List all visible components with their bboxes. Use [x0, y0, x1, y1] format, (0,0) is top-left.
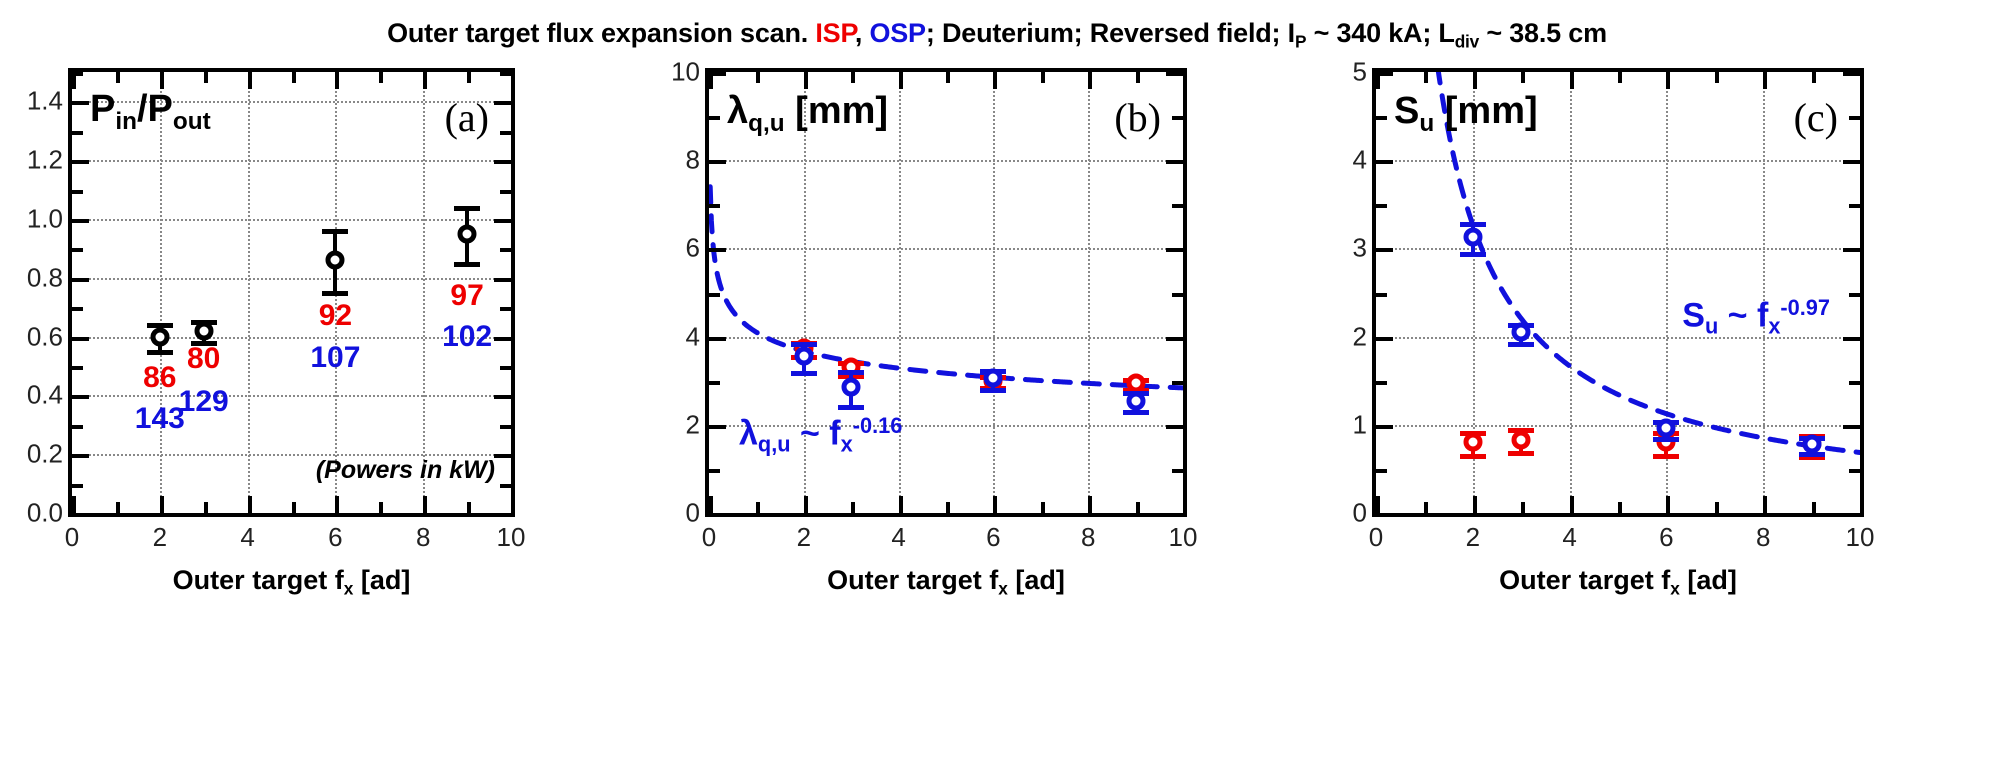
x-axis-tick-major [1473, 72, 1477, 89]
y-axis-tick-major [1166, 425, 1183, 429]
gridline-horizontal [709, 248, 1183, 250]
x-axis-tick-label: 8 [1756, 522, 1770, 553]
y-axis-tick-major [1166, 248, 1183, 252]
y-axis-tick-minor [1376, 204, 1387, 208]
y-axis-tick-label: 1.2 [27, 145, 63, 176]
marker-open-circle [1463, 227, 1482, 246]
x-axis-tick-major [1376, 72, 1380, 89]
y-axis-tick-major [1843, 160, 1860, 164]
y-axis-tick-minor [500, 307, 511, 311]
y-axis-tick-major [72, 160, 89, 164]
x-axis-tick-minor [1041, 502, 1045, 513]
x-axis-tick-label: 0 [702, 522, 716, 553]
y-axis-tick-major [494, 454, 511, 458]
x-axis-tick-label: 4 [240, 522, 254, 553]
y-axis-tick-minor [1849, 469, 1860, 473]
x-axis-tick-label: 4 [1562, 522, 1576, 553]
y-axis-tick-minor [1376, 293, 1387, 297]
error-bar-cap-lower [1508, 342, 1534, 347]
power-annotation-osp: 129 [179, 385, 229, 419]
power-annotation-isp: 80 [187, 342, 220, 376]
y-axis-tick-minor [709, 293, 720, 297]
y-axis-tick-major [709, 248, 726, 252]
gridline-vertical [1088, 72, 1090, 513]
y-axis-tick-major [1843, 337, 1860, 341]
x-axis-tick-major [1088, 72, 1092, 89]
x-axis-tick-major [1473, 496, 1477, 513]
x-axis-tick-major [423, 72, 427, 89]
marker-open-circle [1463, 433, 1482, 452]
x-axis-tick-major [1183, 72, 1187, 89]
quantity-label-c: Su [mm] [1394, 92, 1538, 136]
power-annotation-isp: 86 [143, 361, 176, 395]
x-axis-tick-major [1088, 496, 1092, 513]
axis-title-x-a: Outer target fx [ad] [173, 565, 411, 600]
y-axis-tick-major [1376, 425, 1393, 429]
gridline-vertical [248, 72, 250, 513]
x-axis-tick-minor [1715, 72, 1719, 83]
error-bar-cap-upper [454, 206, 480, 211]
gridline-vertical [993, 72, 995, 513]
x-axis-tick-minor [1521, 72, 1525, 83]
y-axis-tick-major [1376, 337, 1393, 341]
error-bar-cap-lower [1508, 451, 1534, 456]
x-axis-tick-minor [1812, 502, 1816, 513]
x-axis-tick-minor [292, 502, 296, 513]
power-annotation-isp: 92 [319, 299, 352, 333]
quantity-label-a: Pin/Pout [90, 90, 211, 134]
y-axis-tick-major [494, 101, 511, 105]
y-axis-tick-major [72, 395, 89, 399]
x-axis-tick-minor [116, 72, 120, 83]
y-axis-tick-minor [1376, 116, 1387, 120]
y-axis-tick-minor [1849, 381, 1860, 385]
y-axis-tick-minor [72, 425, 83, 429]
y-axis-tick-label: 0.8 [27, 262, 63, 293]
x-axis-tick-minor [851, 502, 855, 513]
x-axis-tick-label: 6 [328, 522, 342, 553]
error-bar-cap-lower [1653, 437, 1679, 442]
y-axis-tick-minor [72, 131, 83, 135]
axis-title-x-b: Outer target fx [ad] [827, 565, 1065, 600]
fit-annotation-c: Su ~ fx-0.97 [1682, 297, 1830, 337]
y-axis-tick-major [72, 101, 89, 105]
x-axis-tick-major [248, 496, 252, 513]
x-axis-tick-minor [467, 72, 471, 83]
plot-area-c [1376, 72, 1860, 513]
x-axis-tick-minor [851, 72, 855, 83]
x-axis-tick-label: 2 [797, 522, 811, 553]
y-axis-tick-minor [72, 307, 83, 311]
y-axis-tick-minor [72, 248, 83, 252]
y-axis-tick-label: 0.2 [27, 439, 63, 470]
x-axis-tick-major [804, 496, 808, 513]
y-axis-tick-label: 0.4 [27, 380, 63, 411]
marker-open-circle [1126, 391, 1145, 410]
x-axis-tick-major [709, 496, 713, 513]
gridline-horizontal [1376, 160, 1860, 162]
x-axis-tick-minor [1812, 72, 1816, 83]
x-axis-tick-label: 4 [891, 522, 905, 553]
power-annotation-isp: 97 [450, 279, 483, 313]
x-axis-tick-minor [1521, 502, 1525, 513]
y-axis-tick-minor [709, 116, 720, 120]
y-axis-tick-major [72, 278, 89, 282]
x-axis-tick-major [423, 496, 427, 513]
x-axis-tick-major [1860, 496, 1864, 513]
y-axis-tick-minor [1172, 381, 1183, 385]
error-bar-cap-upper [838, 370, 864, 375]
error-bar-cap-lower [147, 350, 173, 355]
x-axis-tick-major [1570, 72, 1574, 89]
y-axis-tick-major [1843, 248, 1860, 252]
error-bar-cap-lower [838, 405, 864, 410]
y-axis-tick-minor [500, 425, 511, 429]
error-bar-cap-lower [1653, 454, 1679, 459]
y-axis-tick-minor [72, 484, 83, 488]
error-bar-cap-lower [791, 371, 817, 376]
error-bar-cap-upper [1460, 222, 1486, 227]
marker-open-circle [842, 378, 861, 397]
y-axis-tick-major [494, 395, 511, 399]
x-axis-tick-minor [1041, 72, 1045, 83]
y-axis-tick-major [72, 454, 89, 458]
y-axis-tick-major [494, 278, 511, 282]
x-axis-tick-minor [467, 502, 471, 513]
gridline-horizontal [1376, 425, 1860, 427]
error-bar-cap-lower [454, 262, 480, 267]
x-axis-tick-minor [1136, 502, 1140, 513]
plot-frame-c: Su [mm] (c) Su ~ fx-0.97 Outer target fx… [1372, 68, 1864, 517]
y-axis-tick-minor [500, 131, 511, 135]
y-axis-tick-major [494, 337, 511, 341]
fit-annotation-b: λq,u ~ fx-0.16 [739, 415, 902, 455]
x-axis-tick-label: 10 [1846, 522, 1875, 553]
y-axis-tick-label: 6 [686, 233, 700, 264]
y-axis-tick-major [1843, 425, 1860, 429]
y-axis-tick-label: 2 [686, 409, 700, 440]
x-axis-tick-major [72, 496, 76, 513]
x-axis-tick-major [1763, 496, 1767, 513]
x-axis-tick-label: 2 [1466, 522, 1480, 553]
y-axis-tick-major [1166, 337, 1183, 341]
panel-b: λq,u [mm] (b) λq,u ~ fx-0.16 Outer targe… [620, 0, 1292, 782]
power-annotation-osp: 107 [310, 341, 360, 375]
y-axis-tick-major [709, 513, 726, 517]
fit-curve-c [1376, 72, 1860, 513]
y-axis-tick-minor [72, 190, 83, 194]
marker-open-circle [1657, 419, 1676, 438]
y-axis-tick-major [1843, 72, 1860, 76]
y-axis-tick-minor [1172, 116, 1183, 120]
y-axis-tick-major [1376, 248, 1393, 252]
error-bar-cap-lower [1123, 410, 1149, 415]
x-axis-tick-minor [204, 502, 208, 513]
y-axis-tick-minor [1849, 293, 1860, 297]
quantity-label-b: λq,u [mm] [727, 92, 888, 136]
x-axis-tick-major [1666, 496, 1670, 513]
y-axis-tick-minor [1376, 469, 1387, 473]
y-axis-tick-label: 8 [686, 145, 700, 176]
marker-open-circle [1802, 435, 1821, 454]
x-axis-tick-minor [756, 502, 760, 513]
y-axis-tick-label: 0 [1353, 498, 1367, 529]
x-axis-tick-major [993, 496, 997, 513]
y-axis-tick-minor [1849, 116, 1860, 120]
x-axis-tick-major [709, 72, 713, 89]
y-axis-tick-label: 4 [686, 321, 700, 352]
power-annotation-osp: 143 [135, 402, 185, 436]
x-axis-tick-minor [116, 502, 120, 513]
x-axis-tick-major [899, 72, 903, 89]
error-bar-cap-lower [980, 388, 1006, 393]
x-axis-tick-minor [379, 502, 383, 513]
y-axis-tick-major [709, 337, 726, 341]
x-axis-tick-major [160, 496, 164, 513]
y-axis-tick-major [1166, 513, 1183, 517]
x-axis-tick-label: 10 [497, 522, 526, 553]
y-axis-tick-major [72, 513, 89, 517]
x-axis-tick-major [335, 72, 339, 89]
y-axis-tick-minor [709, 381, 720, 385]
x-axis-tick-major [1183, 496, 1187, 513]
y-axis-tick-minor [1172, 204, 1183, 208]
y-axis-tick-major [1843, 513, 1860, 517]
error-bar-cap-lower [1460, 454, 1486, 459]
marker-open-circle [1126, 373, 1145, 392]
x-axis-tick-major [511, 72, 515, 89]
panel-a: 86143801299210797102 Pin/Pout (a) (Power… [0, 0, 620, 782]
plot-frame-b: λq,u [mm] (b) λq,u ~ fx-0.16 Outer targe… [705, 68, 1187, 517]
x-axis-tick-minor [1424, 502, 1428, 513]
gridline-horizontal [709, 337, 1183, 339]
x-axis-tick-minor [1618, 72, 1622, 83]
x-axis-tick-minor [204, 72, 208, 83]
y-axis-tick-major [1376, 160, 1393, 164]
x-axis-tick-minor [292, 72, 296, 83]
x-axis-tick-major [1860, 72, 1864, 89]
marker-open-circle [458, 224, 477, 243]
panel-c: Su [mm] (c) Su ~ fx-0.97 Outer target fx… [1292, 0, 1994, 782]
x-axis-tick-label: 0 [65, 522, 79, 553]
x-axis-tick-label: 6 [986, 522, 1000, 553]
gridline-horizontal [72, 219, 511, 221]
gridline-vertical [1570, 72, 1572, 513]
x-axis-tick-major [248, 72, 252, 89]
gridline-horizontal [72, 278, 511, 280]
y-axis-tick-major [72, 219, 89, 223]
y-axis-tick-minor [709, 469, 720, 473]
marker-open-circle [984, 369, 1003, 388]
x-axis-tick-minor [1715, 502, 1719, 513]
y-axis-tick-minor [1849, 204, 1860, 208]
x-axis-tick-label: 10 [1169, 522, 1198, 553]
y-axis-tick-minor [709, 204, 720, 208]
y-axis-tick-label: 2 [1353, 321, 1367, 352]
panel-tag-a: (a) [445, 94, 489, 141]
y-axis-tick-minor [1376, 381, 1387, 385]
y-axis-tick-label: 5 [1353, 57, 1367, 88]
y-axis-tick-minor [500, 366, 511, 370]
gridline-vertical [423, 72, 425, 513]
y-axis-tick-minor [500, 72, 511, 76]
marker-open-circle [1512, 430, 1531, 449]
y-axis-tick-label: 0.6 [27, 321, 63, 352]
y-axis-tick-label: 1 [1353, 409, 1367, 440]
x-axis-tick-minor [1424, 72, 1428, 83]
x-axis-tick-major [511, 496, 515, 513]
gridline-horizontal [1376, 248, 1860, 250]
x-axis-tick-label: 8 [1081, 522, 1095, 553]
gridline-vertical [1763, 72, 1765, 513]
plot-frame-a: 86143801299210797102 Pin/Pout (a) (Power… [68, 68, 515, 517]
x-axis-tick-major [993, 72, 997, 89]
x-axis-tick-minor [1136, 72, 1140, 83]
y-axis-tick-label: 10 [671, 57, 700, 88]
error-bar-cap-lower [322, 291, 348, 296]
y-axis-tick-minor [1172, 293, 1183, 297]
error-bar-cap-lower [1460, 252, 1486, 257]
panel-tag-c: (c) [1794, 94, 1838, 141]
gridline-vertical [160, 72, 162, 513]
error-bar-cap-upper [322, 229, 348, 234]
panel-tag-b: (b) [1114, 94, 1161, 141]
y-axis-tick-major [72, 337, 89, 341]
x-axis-tick-minor [946, 502, 950, 513]
x-axis-tick-major [160, 72, 164, 89]
x-axis-tick-label: 0 [1369, 522, 1383, 553]
power-annotation-osp: 102 [442, 320, 492, 354]
y-axis-tick-major [1166, 72, 1183, 76]
x-axis-tick-major [1666, 72, 1670, 89]
y-axis-tick-minor [72, 366, 83, 370]
marker-open-circle [194, 321, 213, 340]
x-axis-tick-minor [1618, 502, 1622, 513]
y-axis-tick-major [1166, 160, 1183, 164]
x-axis-tick-major [72, 72, 76, 89]
x-axis-tick-label: 6 [1659, 522, 1673, 553]
marker-open-circle [794, 347, 813, 366]
y-axis-tick-label: 3 [1353, 233, 1367, 264]
y-axis-tick-major [709, 425, 726, 429]
y-axis-tick-minor [500, 248, 511, 252]
x-axis-tick-minor [756, 72, 760, 83]
gridline-horizontal [709, 160, 1183, 162]
marker-open-circle [326, 251, 345, 270]
axis-title-x-c: Outer target fx [ad] [1499, 565, 1737, 600]
y-axis-tick-label: 1.0 [27, 204, 63, 235]
y-axis-tick-major [494, 513, 511, 517]
x-axis-tick-major [804, 72, 808, 89]
y-axis-tick-minor [500, 190, 511, 194]
x-axis-tick-major [1570, 496, 1574, 513]
y-axis-tick-label: 0.0 [27, 498, 63, 529]
x-axis-tick-label: 8 [416, 522, 430, 553]
x-axis-tick-minor [946, 72, 950, 83]
x-axis-tick-label: 2 [153, 522, 167, 553]
x-axis-tick-major [899, 496, 903, 513]
gridline-horizontal [72, 395, 511, 397]
x-axis-tick-major [1763, 72, 1767, 89]
y-axis-tick-major [494, 219, 511, 223]
y-axis-tick-major [1376, 513, 1393, 517]
y-axis-tick-minor [1172, 469, 1183, 473]
y-axis-tick-major [494, 160, 511, 164]
y-axis-tick-label: 4 [1353, 145, 1367, 176]
x-axis-tick-major [335, 496, 339, 513]
marker-open-circle [150, 327, 169, 346]
y-axis-tick-label: 1.4 [27, 86, 63, 117]
powers-note: (Powers in kW) [316, 456, 495, 485]
x-axis-tick-minor [379, 72, 383, 83]
y-axis-tick-minor [500, 484, 511, 488]
x-axis-tick-major [1376, 496, 1380, 513]
y-axis-tick-major [709, 160, 726, 164]
marker-open-circle [1512, 323, 1531, 342]
y-axis-tick-label: 0 [686, 498, 700, 529]
gridline-horizontal [72, 160, 511, 162]
